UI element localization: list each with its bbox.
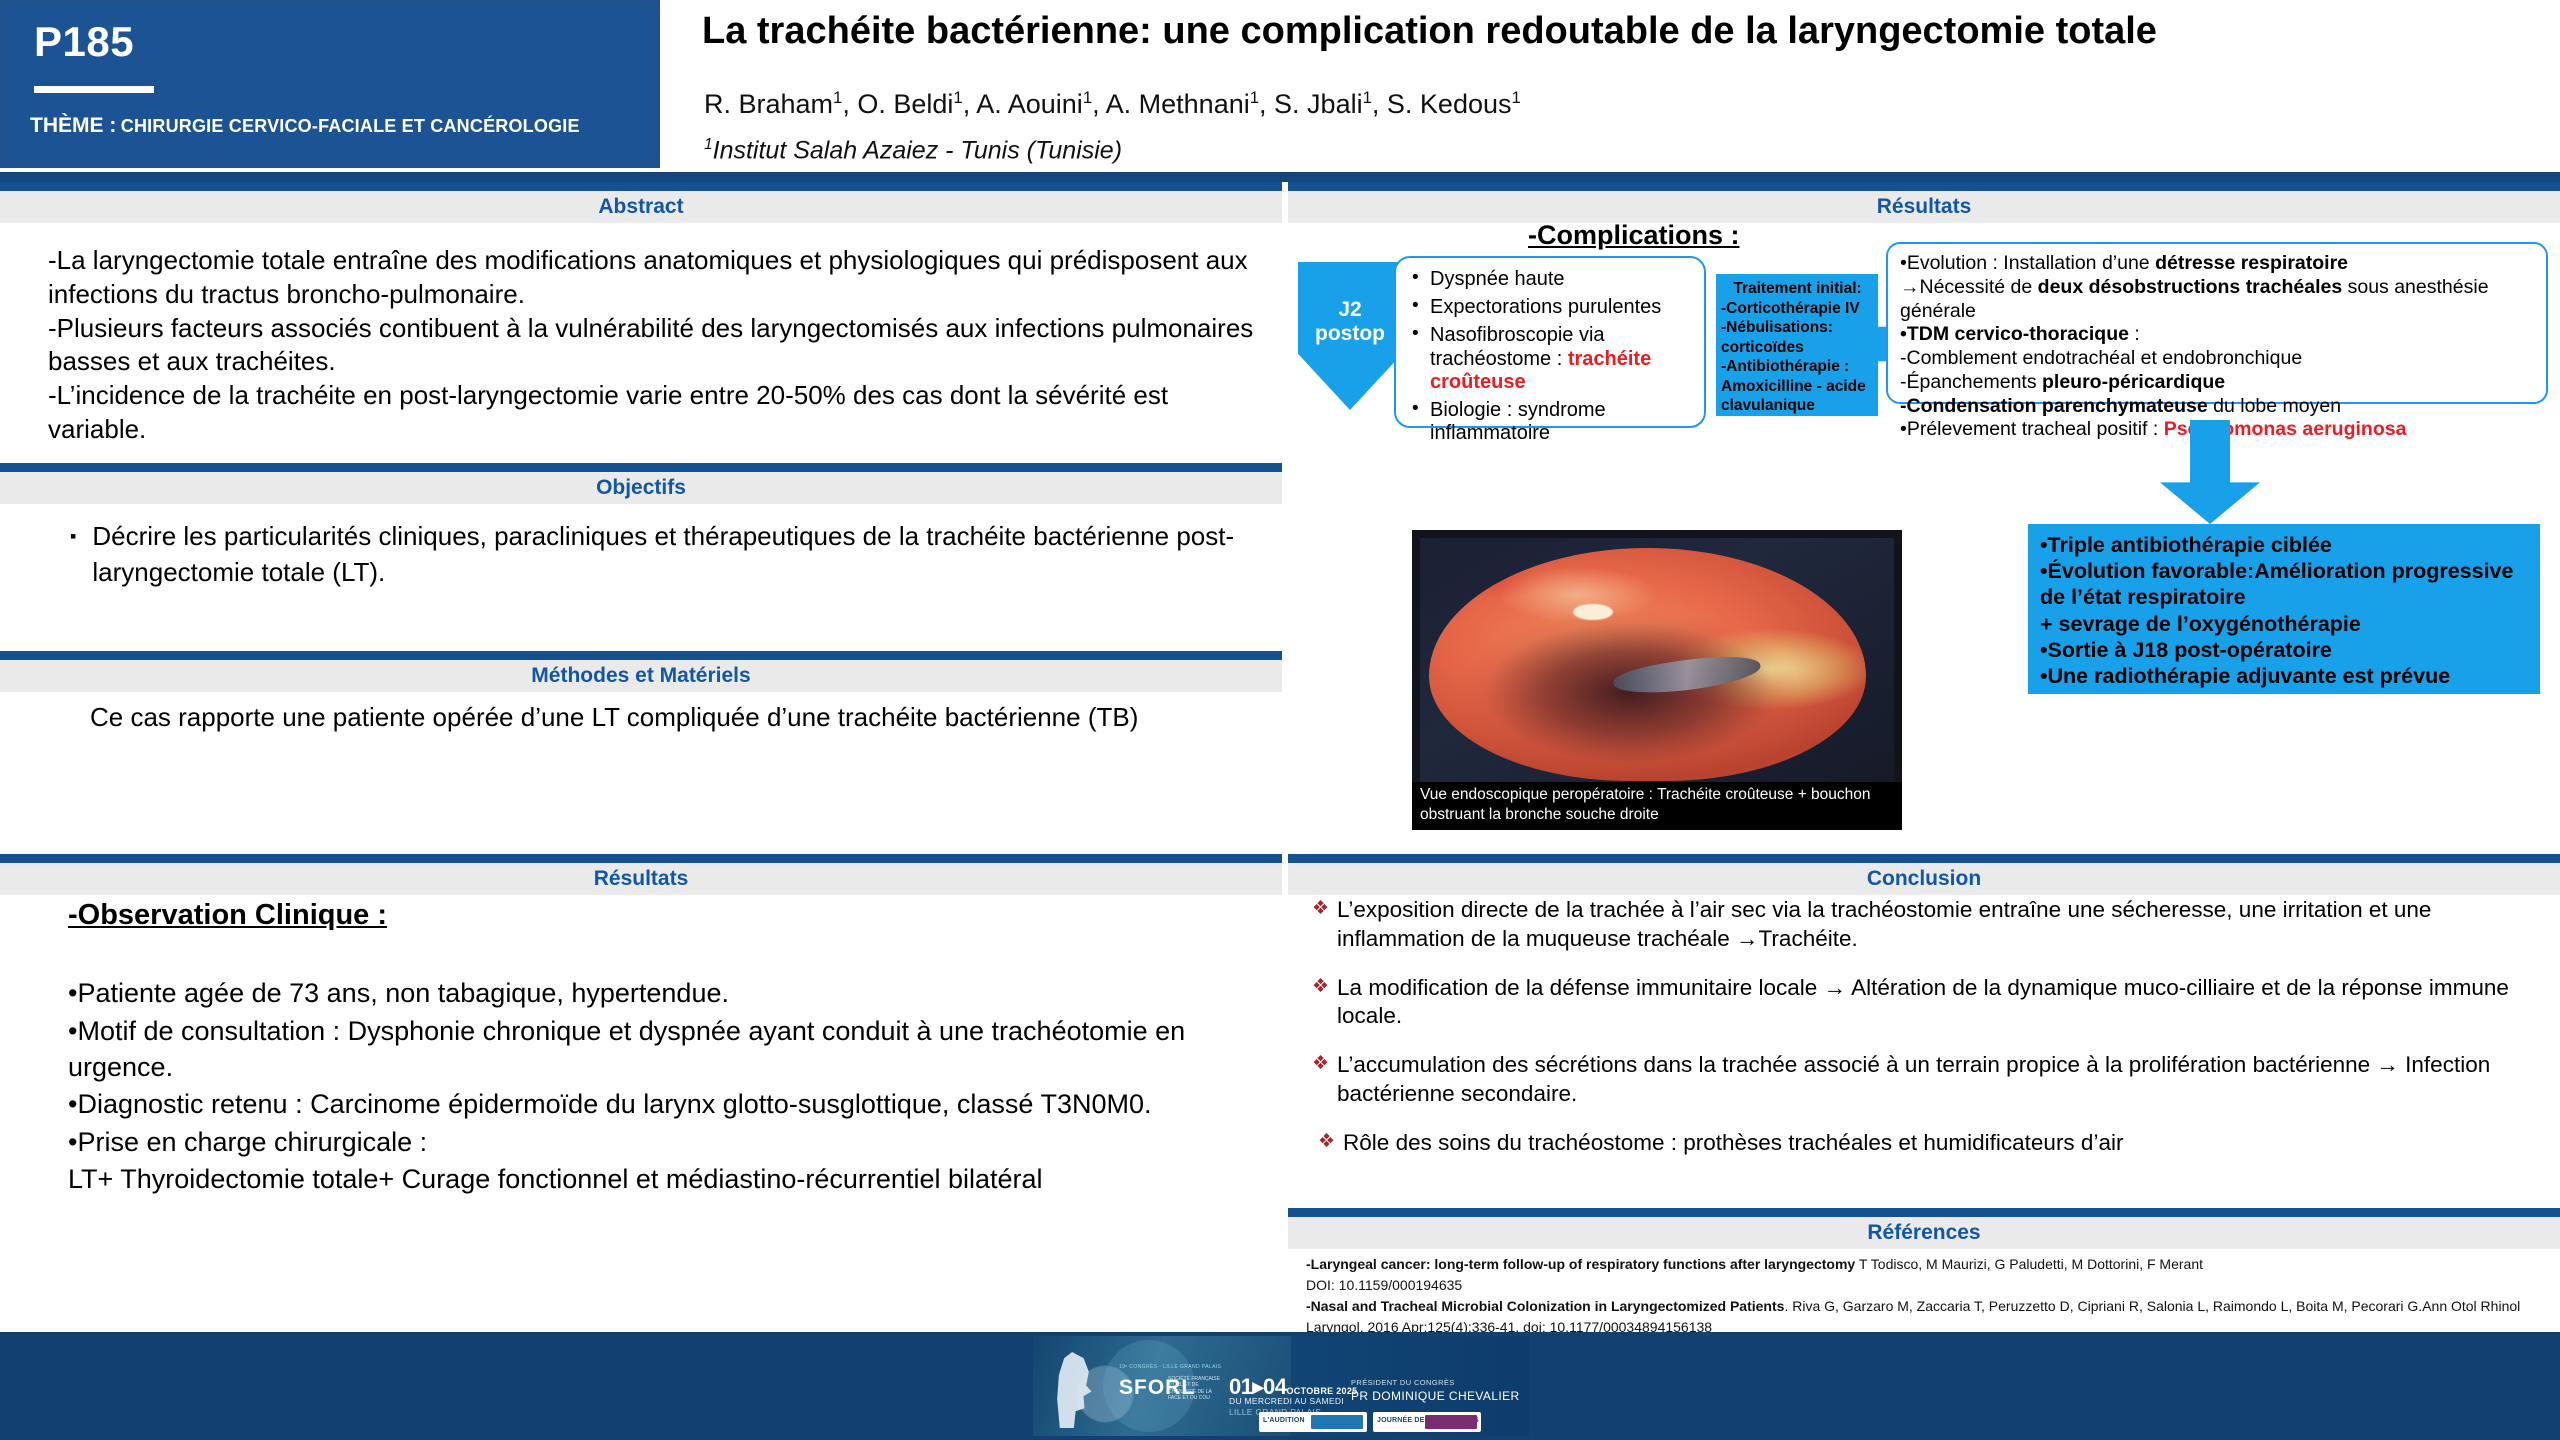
- down-arrow-j2-icon: J2postop: [1298, 262, 1402, 410]
- section-title-resultats-right: Résultats: [1288, 191, 2560, 223]
- theme-label: THÈME :: [30, 114, 116, 137]
- list-item: Biologie : syndrome inflammatoire: [1410, 399, 1696, 445]
- evolution-text: •Prélevement tracheal positif :: [1900, 418, 2164, 440]
- badge-audition-edition: [1311, 1415, 1363, 1429]
- objectifs-item-text: Décrire les particularités cliniques, pa…: [92, 519, 1250, 591]
- header-blue-panel-inner: P185 THÈME : CHIRURGIE CERVICO-FACIALE E…: [8, 6, 652, 162]
- traitement-line-1: -Corticothérapie IV: [1721, 299, 1874, 319]
- traitement-line-2: -Nébulisations: corticoïdes: [1721, 318, 1874, 357]
- section-band-abstract: Abstract: [0, 182, 1282, 223]
- evolution-text: du lobe moyen: [2208, 395, 2341, 417]
- resultats-left-body: -Observation Clinique : •Patiente agée d…: [68, 896, 1268, 1200]
- list-item: ❖ La modification de la défense immunita…: [1312, 974, 2552, 1032]
- list-item: •Patiente agée de 73 ans, non tabagique,…: [68, 976, 1268, 1012]
- complications-list: Dyspnée haute Expectorations purulentes …: [1410, 268, 1696, 445]
- evolution-bold: pleuro-péricardique: [2042, 371, 2225, 393]
- specular-glare: [1611, 650, 1762, 701]
- sforl-head-logo-icon: [1051, 1352, 1095, 1428]
- abstract-body: -La laryngectomie totale entraîne des mo…: [48, 244, 1258, 447]
- reference-authors: T Todisco, M Maurizi, G Paludetti, M Dot…: [1855, 1256, 2203, 1272]
- poster-id: P185: [34, 18, 134, 66]
- list-item: ❖ Rôle des soins du trachéostome : proth…: [1312, 1129, 2552, 1158]
- section-title-methodes: Méthodes et Matériels: [0, 660, 1282, 692]
- tracheal-lumen-view: [1429, 548, 1865, 781]
- traitement-initial-box: Traitement initial: -Corticothérapie IV …: [1716, 274, 1878, 416]
- band-bar: [1288, 854, 2560, 863]
- section-band-objectifs: Objectifs: [0, 463, 1282, 504]
- section-title-abstract: Abstract: [0, 191, 1282, 223]
- traitement-line-3: -Antibiothérapie : Amoxicilline - acide …: [1721, 357, 1874, 416]
- sforl-org-fullname: SOCIÉTÉ FRANÇAISE D'ORL ET DE CHIRURGIE …: [1168, 1376, 1224, 1401]
- list-item: •Prise en charge chirurgicale :: [68, 1125, 1268, 1161]
- badge-infirmieres: JOURNÉE DES INFIRMIÈRES: [1373, 1412, 1481, 1432]
- poster-header: P185 THÈME : CHIRURGIE CERVICO-FACIALE E…: [0, 0, 2560, 178]
- badge-audition: L'AUDITION: [1259, 1412, 1367, 1432]
- outcome-line-5: •Une radiothérapie adjuvante est prévue: [2040, 663, 2532, 689]
- badge-infirmieres-edition: [1425, 1415, 1477, 1429]
- president-name: PR DOMINIQUE CHEVALIER: [1351, 1389, 1520, 1403]
- reference-title: -Laryngeal cancer: long-term follow-up o…: [1306, 1256, 1855, 1272]
- section-band-methodes: Méthodes et Matériels: [0, 651, 1282, 692]
- reference-doi: DOI: 10.1159/000194635: [1306, 1275, 2554, 1296]
- congress-days: DU MERCREDI AU SAMEDI: [1229, 1396, 1344, 1406]
- reference-entry: -Laryngeal cancer: long-term follow-up o…: [1306, 1254, 2554, 1275]
- evolution-line-2: →Nécessité de deux désobstructions trach…: [1900, 276, 2540, 324]
- list-item: LT+ Thyroidectomie totale+ Curage foncti…: [68, 1162, 1268, 1198]
- congress-banner: 19ᵉ CONGRÈS · LILLE GRAND PALAIS SFORL S…: [1033, 1336, 1529, 1436]
- references-body: -Laryngeal cancer: long-term follow-up o…: [1306, 1254, 2554, 1338]
- diamond-bullet-icon: ❖: [1312, 1051, 1329, 1109]
- complications-box: Dyspnée haute Expectorations purulentes …: [1394, 256, 1706, 428]
- diamond-bullet-icon: ❖: [1312, 896, 1329, 954]
- endoscope-monitor-bezel: [1420, 538, 1894, 786]
- evolution-bold: •TDM cervico-thoracique: [1900, 323, 2129, 345]
- theme-line: THÈME : CHIRURGIE CERVICO-FACIALE ET CAN…: [30, 114, 580, 138]
- section-band-resultats-right: Résultats: [1288, 182, 2560, 223]
- list-item: ❖ L’accumulation des sécrétions dans la …: [1312, 1051, 2552, 1109]
- affiliation-line: 1Institut Salah Azaiez - Tunis (Tunisie): [704, 136, 1122, 165]
- methodes-body: Ce cas rapporte une patiente opérée d’un…: [90, 700, 1250, 735]
- evolution-line-5: -Épanchements pleuro-péricardique: [1900, 371, 2540, 395]
- objectifs-body: ▪ Décrire les particularités cliniques, …: [70, 519, 1250, 591]
- section-title-objectifs: Objectifs: [0, 472, 1282, 504]
- complications-title: -Complications :: [1528, 220, 1740, 251]
- badge-audition-label: L'AUDITION: [1263, 1417, 1305, 1424]
- band-bar: [0, 182, 1282, 191]
- outcome-box: •Triple antibiothérapie ciblée •Évolutio…: [2028, 524, 2540, 694]
- band-bar: [0, 854, 1282, 863]
- evolution-text: :: [2129, 323, 2140, 345]
- list-item: •Motif de consultation : Dysphonie chron…: [68, 1014, 1268, 1085]
- section-title-conclusion: Conclusion: [1288, 863, 2560, 895]
- header-blue-panel: P185 THÈME : CHIRURGIE CERVICO-FACIALE E…: [0, 0, 660, 168]
- conclusion-item-text: L’exposition directe de la trachée à l’a…: [1337, 896, 2552, 954]
- authors-line: R. Braham1, O. Beldi1, A. Aouini1, A. Me…: [704, 88, 1521, 120]
- abstract-p1: -La laryngectomie totale entraîne des mo…: [48, 245, 1248, 309]
- list-item: ▪ Décrire les particularités cliniques, …: [70, 519, 1250, 591]
- evolution-line-3: •TDM cervico-thoracique :: [1900, 323, 2540, 347]
- band-bar: [1288, 1208, 2560, 1217]
- square-bullet-icon: ▪: [70, 519, 76, 591]
- band-bar: [0, 651, 1282, 660]
- congress-tagline: 19ᵉ CONGRÈS · LILLE GRAND PALAIS: [1119, 1364, 1221, 1370]
- evolution-line-4: -Comblement endotrachéal et endobronchiq…: [1900, 347, 2540, 371]
- conclusion-item-text: La modification de la défense immunitair…: [1337, 974, 2552, 1032]
- outcome-line-2: •Évolution favorable:Amélioration progre…: [2040, 558, 2532, 610]
- evolution-line-6: -Condensation parenchymateuse du lobe mo…: [1900, 395, 2540, 419]
- title-area: La trachéite bactérienne: une complicati…: [690, 0, 2560, 172]
- evolution-line-1: •Evolution : Installation d’une détresse…: [1900, 252, 2540, 276]
- observation-clinique-title: -Observation Clinique :: [68, 896, 1268, 934]
- traitement-title: Traitement initial:: [1721, 279, 1874, 299]
- specular-highlight: [1573, 604, 1612, 620]
- president-label: PRÉSIDENT DU CONGRÈS: [1351, 1378, 1455, 1387]
- abstract-p2: -Plusieurs facteurs associés contibuent …: [48, 313, 1253, 377]
- evolution-text: •Evolution : Installation d’une: [1900, 252, 2155, 274]
- endoscopic-image: Vue endoscopique peropératoire : Trachéi…: [1412, 530, 1902, 830]
- header-divider-rule: [34, 86, 154, 93]
- list-item: Nasofibroscopie via trachéostome : trach…: [1410, 324, 1696, 394]
- evolution-text: -Épanchements: [1900, 371, 2042, 393]
- congress-dates-month: OCTOBRE 2025: [1286, 1386, 1357, 1396]
- section-band-resultats-left: Résultats: [0, 854, 1282, 895]
- conclusion-item-text: Rôle des soins du trachéostome : prothès…: [1343, 1129, 2123, 1158]
- list-item: •Diagnostic retenu : Carcinome épidermoï…: [68, 1087, 1268, 1123]
- outcome-line-1: •Triple antibiothérapie ciblée: [2040, 532, 2532, 558]
- list-item: Expectorations purulentes: [1410, 296, 1696, 319]
- band-bar: [1288, 182, 2560, 191]
- list-item: Dyspnée haute: [1410, 268, 1696, 291]
- evolution-bold: détresse respiratoire: [2155, 252, 2348, 274]
- outcome-line-3: + sevrage de l’oxygénothérapie: [2040, 611, 2532, 637]
- diamond-bullet-icon: ❖: [1312, 1129, 1335, 1158]
- theme-value: CHIRURGIE CERVICO-FACIALE ET CANCÉROLOGI…: [121, 116, 580, 136]
- complications-flowchart: -Complications : J2postop Dyspnée haute …: [1288, 224, 2560, 554]
- section-title-references: Références: [1288, 1217, 2560, 1249]
- poster-root: P185 THÈME : CHIRURGIE CERVICO-FACIALE E…: [0, 0, 2560, 1440]
- abstract-p3: -L’incidence de la trachéite en post-lar…: [48, 380, 1168, 444]
- list-item: ❖ L’exposition directe de la trachée à l…: [1312, 896, 2552, 954]
- page-title: La trachéite bactérienne: une complicati…: [702, 10, 2552, 53]
- j2-arrow-label: J2postop: [1315, 298, 1385, 345]
- header-bottom-bar: [0, 172, 2560, 182]
- evolution-box: •Evolution : Installation d’une détresse…: [1886, 242, 2548, 404]
- endoscopic-image-caption: Vue endoscopique peropératoire : Trachéi…: [1412, 782, 1902, 830]
- left-column: Abstract -La laryngectomie totale entraî…: [0, 182, 1282, 1332]
- diamond-bullet-icon: ❖: [1312, 974, 1329, 1032]
- evolution-bold: -Condensation parenchymateuse: [1900, 395, 2208, 417]
- section-title-resultats-left: Résultats: [0, 863, 1282, 895]
- conclusion-item-text: L’accumulation des sécrétions dans la tr…: [1337, 1051, 2552, 1109]
- section-band-references: Références: [1288, 1208, 2560, 1249]
- reference-title: -Nasal and Tracheal Microbial Colonizati…: [1306, 1298, 1784, 1314]
- section-band-conclusion: Conclusion: [1288, 854, 2560, 895]
- band-bar: [0, 463, 1282, 472]
- evolution-bold: deux désobstructions trachéales: [2038, 276, 2343, 298]
- conclusion-body: ❖ L’exposition directe de la trachée à l…: [1312, 896, 2552, 1158]
- evolution-text: →Nécessité de: [1900, 276, 2038, 298]
- outcome-line-4: •Sortie à J18 post-opératoire: [2040, 637, 2532, 663]
